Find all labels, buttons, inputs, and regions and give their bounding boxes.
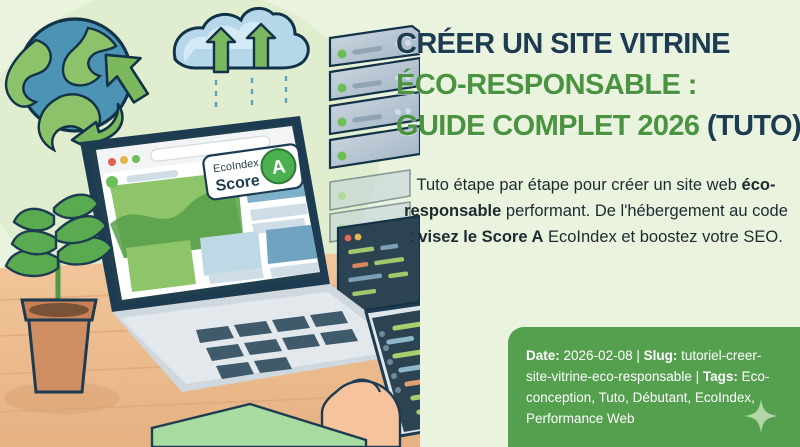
meta-date-label: Date: [526,348,560,363]
poster-canvas: EcoIndex Score A [0,0,800,447]
title-line-3-navy: (TUTO) [707,110,800,142]
text-column: CRÉER UN SITE VITRINE ÉCO-RESPONSABLE : … [392,0,800,447]
meta-date-value: 2026-02-08 [564,348,633,363]
meta-tags-label: Tags: [703,369,738,384]
page-subtitle: Tuto étape par étape pour créer un site … [402,172,790,250]
subtitle-part-1: Tuto étape par étape pour créer un site … [417,176,742,194]
subtitle-part-3: EcoIndex et boostez votre SEO. [543,228,782,246]
hero-illustration: EcoIndex Score A [0,0,420,447]
title-line-1: CRÉER UN SITE VITRINE [396,24,792,65]
sparkle-icon [744,399,778,433]
title-line-3-green: GUIDE COMPLET 2026 [396,110,699,142]
page-title: CRÉER UN SITE VITRINE ÉCO-RESPONSABLE : … [396,24,792,147]
title-line-3: GUIDE COMPLET 2026 (TUTO) [396,106,792,147]
subtitle-bold-2: visez le Score A [418,228,543,246]
title-line-2: ÉCO-RESPONSABLE : [396,65,792,106]
metadata-band: Date: 2026-02-08 | Slug: tutoriel-creer-… [508,327,800,447]
meta-slug-label: Slug: [644,348,678,363]
